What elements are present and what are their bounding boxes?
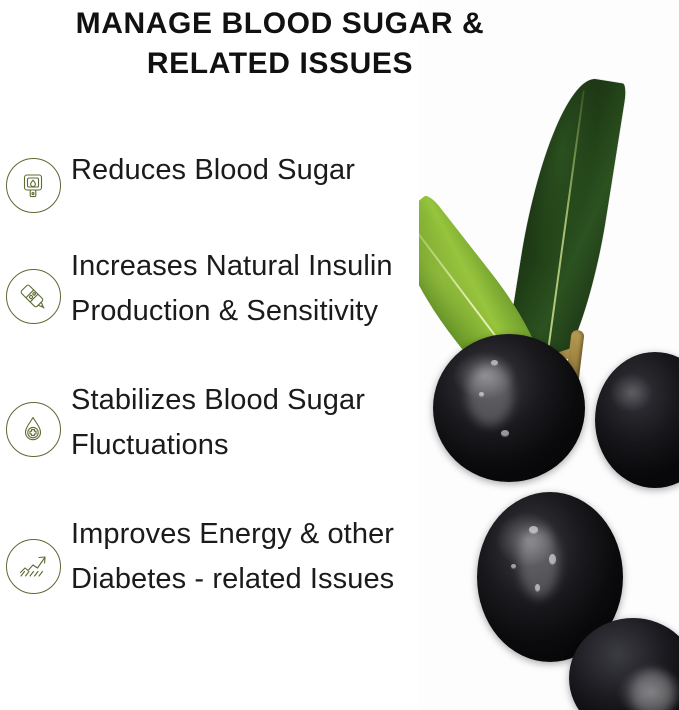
benefit-icon-wrap	[0, 512, 66, 594]
benefit-text: Increases Natural Insulin Production & S…	[66, 244, 500, 334]
benefits-list: Reduces Blood Sugar	[0, 148, 500, 632]
page-title-line-1: MANAGE BLOOD SUGAR &	[0, 4, 560, 44]
benefit-text-line-2: Fluctuations	[71, 423, 500, 468]
benefit-text-line-2: Diabetes - related Issues	[71, 557, 500, 602]
water-droplet	[511, 564, 516, 568]
water-droplet	[529, 526, 538, 533]
benefit-text: Stabilizes Blood Sugar Fluctuations	[66, 378, 500, 468]
benefit-item: Reduces Blood Sugar	[0, 148, 500, 244]
benefit-item: Increases Natural Insulin Production & S…	[0, 244, 500, 378]
product-benefits-infographic: MANAGE BLOOD SUGAR & RELATED ISSUES Redu…	[0, 0, 679, 710]
water-droplet	[549, 554, 556, 564]
water-droplet	[501, 430, 509, 436]
blood-drop-cross-icon	[6, 402, 61, 457]
benefit-icon-wrap	[0, 378, 66, 457]
page-title: MANAGE BLOOD SUGAR & RELATED ISSUES	[0, 4, 560, 84]
glucose-meter-icon	[6, 158, 61, 213]
page-title-line-2: RELATED ISSUES	[0, 44, 560, 84]
benefit-text-line-1: Reduces Blood Sugar	[71, 148, 500, 193]
water-droplet	[535, 584, 540, 591]
benefit-icon-wrap	[0, 244, 66, 324]
benefit-item: Stabilizes Blood Sugar Fluctuations	[0, 378, 500, 512]
benefit-text-line-1: Stabilizes Blood Sugar	[71, 378, 500, 423]
growth-chart-arrow-icon	[6, 539, 61, 594]
benefit-text: Improves Energy & other Diabetes - relat…	[66, 512, 500, 602]
benefit-text-line-2: Production & Sensitivity	[71, 289, 500, 334]
benefit-item: Improves Energy & other Diabetes - relat…	[0, 512, 500, 632]
benefit-text-line-1: Improves Energy & other	[71, 512, 500, 557]
benefit-text-line-1: Increases Natural Insulin	[71, 244, 500, 289]
insulin-pen-icon	[6, 269, 61, 324]
benefit-text: Reduces Blood Sugar	[66, 148, 500, 193]
specular-highlight	[631, 670, 675, 710]
benefit-icon-wrap	[0, 148, 66, 213]
